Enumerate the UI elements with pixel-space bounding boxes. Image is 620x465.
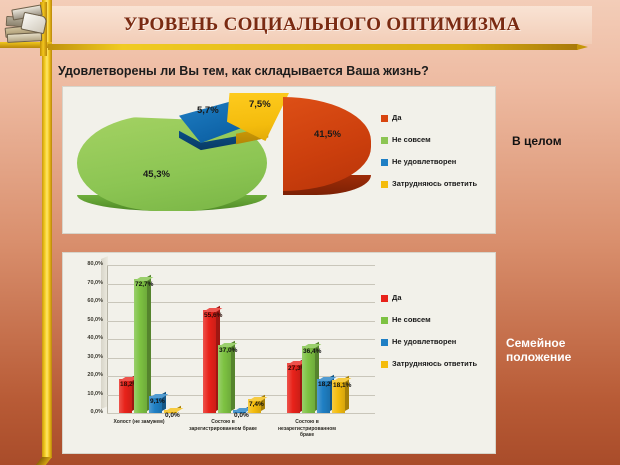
bar-group: 55,6%37,0%0,0%7,4% xyxy=(203,265,263,413)
category-label: Состою в незарегистрированном браке xyxy=(271,419,343,439)
bar-4-group-2: 7,4% xyxy=(248,399,261,413)
bar-group: 18,2%72,7%9,1%0,0% xyxy=(119,265,179,413)
bar-4-group-3: 18,1% xyxy=(332,380,345,413)
y-axis-tick: 80,0% xyxy=(69,261,103,267)
legend-item-not-quite: Не совсем xyxy=(381,135,489,144)
legend-swatch-not-quite xyxy=(381,137,388,144)
caption-overall: В целом xyxy=(512,134,612,148)
bar-chart-panel: 0,0%10,0%20,0%30,0%40,0%50,0%60,0%70,0%8… xyxy=(62,252,496,454)
y-axis-tick: 30,0% xyxy=(69,354,103,360)
bar-value-label: 37,0% xyxy=(219,347,253,354)
bar-value-label: 0,0% xyxy=(165,412,199,419)
bar-legend-label-yes: Да xyxy=(392,293,402,302)
legend-label-not-quite: Не совсем xyxy=(392,135,431,144)
legend-swatch-unsatisfied xyxy=(381,159,388,166)
bar-3-group-3: 18,2% xyxy=(317,379,330,413)
bar-plot-area: 18,2%72,7%9,1%0,0%55,6%37,0%0,0%7,4%27,3… xyxy=(107,265,375,413)
y-axis-tick: 20,0% xyxy=(69,372,103,378)
pie-slice-not-quite xyxy=(77,115,267,211)
category-label: Состою в зарегистрированном браке xyxy=(187,419,259,432)
bar-legend-label-not-quite: Не совсем xyxy=(392,315,431,324)
y-axis-tick: 10,0% xyxy=(69,391,103,397)
pie-label-hard-to-say: 7,5% xyxy=(249,99,271,110)
bar-3-group-2: 0,0% xyxy=(233,410,246,413)
bar-legend-swatch-unsatisfied xyxy=(381,339,388,346)
pie-label-yes: 41,5% xyxy=(314,129,341,140)
bar-1-group-1: 18,2% xyxy=(119,379,132,413)
pie-stage: 45,3% 5,7% 7,5% 41,5% xyxy=(71,91,371,229)
stack-of-books-icon xyxy=(4,4,52,52)
bar-chart: 0,0%10,0%20,0%30,0%40,0%50,0%60,0%70,0%8… xyxy=(63,253,495,453)
bar-1-group-3: 27,3% xyxy=(287,363,300,414)
y-axis-tick: 40,0% xyxy=(69,335,103,341)
bar-legend-label-hard-to-say: Затрудняюсь ответить xyxy=(392,359,477,368)
pie-chart-panel: 45,3% 5,7% 7,5% 41,5% Да Не совсем Не уд… xyxy=(62,86,496,234)
bar-legend-swatch-not-quite xyxy=(381,317,388,324)
bar-value-label: 55,6% xyxy=(204,312,238,319)
bar-legend-swatch-hard-to-say xyxy=(381,361,388,368)
bar-legend-item-hard-to-say: Затрудняюсь ответить xyxy=(381,359,489,368)
pie-legend: Да Не совсем Не удовлетворен Затрудняюсь… xyxy=(381,113,489,201)
bar-3-group-1: 9,1% xyxy=(149,396,162,413)
bar-2-group-3: 36,4% xyxy=(302,346,315,413)
bar-4-group-1: 0,0% xyxy=(164,410,177,413)
bar-value-label: 9,1% xyxy=(150,398,184,405)
legend-item-hard-to-say: Затрудняюсь ответить xyxy=(381,179,489,188)
category-label: Холост (не замужем) xyxy=(103,419,175,426)
y-axis-tick: 60,0% xyxy=(69,298,103,304)
y-axis-tick: 50,0% xyxy=(69,317,103,323)
bar-1-group-2: 55,6% xyxy=(203,310,216,413)
bar-value-label: 18,1% xyxy=(333,382,367,389)
legend-swatch-yes xyxy=(381,115,388,122)
bar-face xyxy=(218,345,231,413)
bar-value-label: 0,0% xyxy=(234,412,268,419)
legend-item-yes: Да xyxy=(381,113,489,122)
title-underline-arrow xyxy=(48,44,578,50)
legend-item-unsatisfied: Не удовлетворен xyxy=(381,157,489,166)
y-axis-tick: 0,0% xyxy=(69,409,103,415)
caption-marital-status: Семейное положение xyxy=(506,336,614,364)
bar-legend-swatch-yes xyxy=(381,295,388,302)
bar-face xyxy=(134,279,147,413)
bar-face xyxy=(302,346,315,413)
bar-side xyxy=(147,274,151,411)
bar-legend-item-yes: Да xyxy=(381,293,489,302)
left-gold-accent-bar xyxy=(42,0,52,458)
bar-legend-item-not-quite: Не совсем xyxy=(381,315,489,324)
bar-value-label: 72,7% xyxy=(135,281,169,288)
bar-legend: Да Не совсем Не удовлетворен Затрудняюсь… xyxy=(381,293,489,381)
page-title: УРОВЕНЬ СОЦИАЛЬНОГО ОПТИМИЗМА xyxy=(124,14,521,36)
bar-face xyxy=(203,310,216,413)
bar-legend-label-unsatisfied: Не удовлетворен xyxy=(392,337,456,346)
pie-chart: 45,3% 5,7% 7,5% 41,5% Да Не совсем Не уд… xyxy=(63,87,495,233)
legend-label-unsatisfied: Не удовлетворен xyxy=(392,157,456,166)
bar-value-label: 36,4% xyxy=(303,348,337,355)
legend-label-hard-to-say: Затрудняюсь ответить xyxy=(392,179,477,188)
slide-header: УРОВЕНЬ СОЦИАЛЬНОГО ОПТИМИЗМА xyxy=(0,0,620,58)
legend-swatch-hard-to-say xyxy=(381,181,388,188)
bar-2-group-1: 72,7% xyxy=(134,279,147,413)
bar-legend-item-unsatisfied: Не удовлетворен xyxy=(381,337,489,346)
y-axis-tick: 70,0% xyxy=(69,280,103,286)
title-banner: УРОВЕНЬ СОЦИАЛЬНОГО ОПТИМИЗМА xyxy=(52,6,592,44)
legend-label-yes: Да xyxy=(392,113,402,122)
pie-label-not-quite: 45,3% xyxy=(143,169,170,180)
presentation-slide: УРОВЕНЬ СОЦИАЛЬНОГО ОПТИМИЗМА Удовлетвор… xyxy=(0,0,620,465)
pie-label-unsatisfied: 5,7% xyxy=(197,105,219,116)
bar-2-group-2: 37,0% xyxy=(218,345,231,413)
bar-value-label: 7,4% xyxy=(249,401,283,408)
bar-group: 27,3%36,4%18,2%18,1% xyxy=(287,265,347,413)
survey-question: Удовлетворены ли Вы тем, как складываетс… xyxy=(58,60,578,82)
